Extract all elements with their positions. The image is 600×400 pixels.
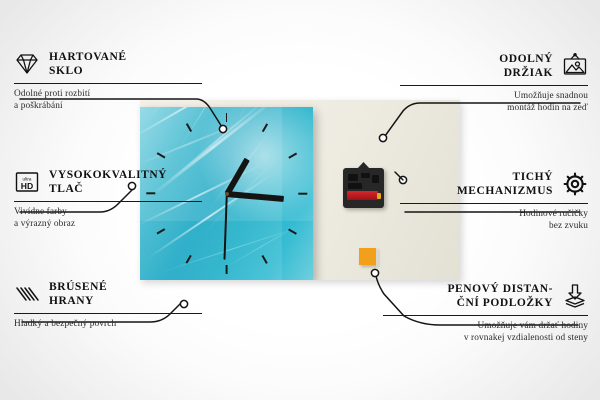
feature-desc-line2: montáž hodin na zeď xyxy=(400,103,588,115)
feature-desc-line1: Hodinové ručičky xyxy=(400,209,588,221)
clock-tick xyxy=(226,265,228,274)
feature-title: PENOVÝ DISTAN- ČNÍ PODLOŽKY xyxy=(447,282,553,310)
feature-divider xyxy=(14,313,202,314)
foam-pad-side xyxy=(376,250,380,267)
mechanism-slot xyxy=(372,175,379,183)
feature-header: HARTOVANÉ SKLO xyxy=(14,50,202,78)
feature-header: BRÚSENÉ HRANY xyxy=(14,280,202,308)
feature-polished-edges: BRÚSENÉ HRANY Hladký a bezpečný povrch xyxy=(14,280,202,331)
feature-divider xyxy=(14,83,202,84)
feature-title: BRÚSENÉ HRANY xyxy=(49,280,107,308)
feature-desc-line1: Vivídne farby xyxy=(14,207,202,219)
feature-durable-hanger: ODOLNÝ DRŽIAK Umožňuje snadnou montáž ho… xyxy=(400,52,588,114)
svg-text:HD: HD xyxy=(21,181,33,191)
clock-tick xyxy=(226,113,228,122)
feature-title: VYSOKOKVALITNÝ TLAČ xyxy=(49,168,167,196)
gear-icon xyxy=(562,171,588,197)
foam-spacer-pad xyxy=(359,248,376,265)
feature-desc-line2: v rovnakej vzdialenosti od steny xyxy=(383,333,588,345)
feature-desc-line1: Umožňuje vám držať hodiny xyxy=(383,321,588,333)
feature-divider xyxy=(400,85,588,86)
clock-pivot xyxy=(225,192,229,196)
feature-desc-line2: a poškrábání xyxy=(14,101,202,113)
feature-desc-line1: Umožňuje snadnou xyxy=(400,91,588,103)
polished-edges-icon xyxy=(14,281,40,307)
clock-mechanism xyxy=(343,168,384,208)
feature-desc-line1: Hladký a bezpečný povrch xyxy=(14,319,202,331)
mechanism-slot xyxy=(348,174,358,181)
ultra-hd-icon: ultra HD xyxy=(14,169,40,195)
feature-header: ODOLNÝ DRŽIAK xyxy=(400,52,588,80)
feature-desc-line1: Odolné proti rozbití xyxy=(14,89,202,101)
feature-divider xyxy=(383,315,588,316)
feature-header: ultra HD VYSOKOKVALITNÝ TLAČ xyxy=(14,168,202,196)
feature-desc-line2: a výrazný obraz xyxy=(14,219,202,231)
feature-hd-print: ultra HD VYSOKOKVALITNÝ TLAČ Vivídne far… xyxy=(14,168,202,230)
feature-divider xyxy=(14,201,202,202)
feature-tempered-glass: HARTOVANÉ SKLO Odolné proti rozbití a po… xyxy=(14,50,202,112)
feature-header: TICHÝ MECHANIZMUS xyxy=(400,170,588,198)
clock-tick xyxy=(298,193,307,195)
feature-title: ODOLNÝ DRŽIAK xyxy=(499,52,553,80)
picture-hanger-icon xyxy=(562,53,588,79)
battery xyxy=(347,191,378,200)
feature-title: HARTOVANÉ SKLO xyxy=(49,50,127,78)
battery-terminal xyxy=(377,193,381,199)
feature-header: PENOVÝ DISTAN- ČNÍ PODLOŽKY xyxy=(383,282,588,310)
feature-silent-mechanism: TICHÝ MECHANIZMUS Hodinové ručičky bez z… xyxy=(400,170,588,232)
feature-desc-line2: bez zvuku xyxy=(400,221,588,233)
foam-spacer-icon xyxy=(562,283,588,309)
feature-divider xyxy=(400,203,588,204)
diamond-icon xyxy=(14,51,40,77)
infographic-canvas: HARTOVANÉ SKLO Odolné proti rozbití a po… xyxy=(0,0,600,400)
feature-title: TICHÝ MECHANIZMUS xyxy=(457,170,553,198)
mechanism-slot xyxy=(361,173,370,178)
feature-foam-spacers: PENOVÝ DISTAN- ČNÍ PODLOŽKY Umožňuje vám… xyxy=(383,282,588,344)
mechanism-slot xyxy=(348,183,362,189)
